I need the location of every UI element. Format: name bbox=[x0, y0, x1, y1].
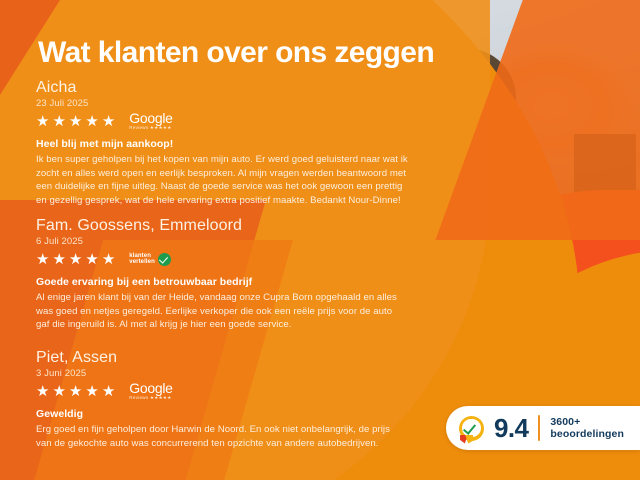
review-date: 23 Juli 2025 bbox=[36, 98, 408, 109]
star-icon: ★ bbox=[69, 252, 82, 267]
review-card: Aicha 23 Juli 2025 ★ ★ ★ ★ ★ Google Revi… bbox=[36, 78, 408, 208]
star-icon: ★ bbox=[52, 384, 65, 399]
star-rating: ★ ★ ★ ★ ★ bbox=[36, 252, 115, 267]
reviewer-name: Aicha bbox=[36, 78, 408, 97]
klantenvertellen-label-bottom: vertellen bbox=[129, 259, 155, 265]
review-body: Al enige jaren klant bij van der Heide, … bbox=[36, 291, 408, 332]
page-title: Wat klanten over ons zeggen bbox=[38, 36, 434, 70]
klantenvertellen-wordmark: klanten vertellen bbox=[129, 253, 155, 266]
star-icon: ★ bbox=[102, 252, 115, 267]
klantenvertellen-seal-icon bbox=[459, 416, 484, 441]
star-rating: ★ ★ ★ ★ ★ bbox=[36, 114, 115, 129]
google-reviews-logo: Google Reviews ★★★★★ bbox=[129, 111, 172, 131]
check-circle-icon bbox=[158, 253, 171, 266]
review-count: 3600+ beoordelingen bbox=[550, 416, 624, 441]
klantenvertellen-logo: klanten vertellen bbox=[129, 253, 171, 266]
star-icon: ★ bbox=[85, 114, 98, 129]
reviewer-name: Piet, Assen bbox=[36, 348, 408, 367]
star-icon: ★ bbox=[102, 384, 115, 399]
star-icon: ★ bbox=[36, 252, 49, 267]
star-icon: ★ bbox=[85, 252, 98, 267]
google-reviews-sublabel: Reviews ★★★★★ bbox=[129, 396, 172, 401]
badge-divider bbox=[538, 415, 540, 441]
content-layer: Wat klanten over ons zeggen Aicha 23 Jul… bbox=[0, 0, 640, 480]
star-icon: ★ bbox=[69, 384, 82, 399]
google-wordmark: Google bbox=[129, 111, 172, 125]
rating-score: 9.4 bbox=[494, 415, 528, 441]
review-meta-row: ★ ★ ★ ★ ★ Google Reviews ★★★★★ bbox=[36, 112, 408, 130]
star-icon: ★ bbox=[85, 384, 98, 399]
review-date: 6 Juli 2025 bbox=[36, 236, 408, 247]
star-icon: ★ bbox=[52, 252, 65, 267]
reviewer-name: Fam. Goossens, Emmeloord bbox=[36, 216, 408, 235]
review-card: Fam. Goossens, Emmeloord 6 Juli 2025 ★ ★… bbox=[36, 216, 408, 332]
star-icon: ★ bbox=[52, 114, 65, 129]
rating-badge[interactable]: 9.4 3600+ beoordelingen bbox=[446, 406, 640, 450]
review-title: Geweldig bbox=[36, 408, 408, 420]
star-icon: ★ bbox=[36, 384, 49, 399]
google-reviews-logo: Google Reviews ★★★★★ bbox=[129, 381, 172, 401]
review-card: Piet, Assen 3 Juni 2025 ★ ★ ★ ★ ★ Google… bbox=[36, 348, 408, 450]
review-date: 3 Juni 2025 bbox=[36, 368, 408, 379]
star-icon: ★ bbox=[102, 114, 115, 129]
review-title: Heel blij met mijn aankoop! bbox=[36, 138, 408, 150]
review-count-number: 3600+ bbox=[550, 416, 624, 428]
review-banner: VDH Wat klanten over ons zeggen Aicha 23… bbox=[0, 0, 640, 480]
review-count-label: beoordelingen bbox=[550, 428, 624, 440]
review-body: Ik ben super geholpen bij het kopen van … bbox=[36, 153, 408, 207]
star-rating: ★ ★ ★ ★ ★ bbox=[36, 384, 115, 399]
review-meta-row: ★ ★ ★ ★ ★ klanten vertellen bbox=[36, 250, 408, 268]
review-meta-row: ★ ★ ★ ★ ★ Google Reviews ★★★★★ bbox=[36, 382, 408, 400]
star-icon: ★ bbox=[36, 114, 49, 129]
review-title: Goede ervaring bij een betrouwbaar bedri… bbox=[36, 276, 408, 288]
google-wordmark: Google bbox=[129, 381, 172, 395]
google-reviews-sublabel: Reviews ★★★★★ bbox=[129, 126, 172, 131]
star-icon: ★ bbox=[69, 114, 82, 129]
review-body: Erg goed en fijn geholpen door Harwin de… bbox=[36, 423, 408, 450]
